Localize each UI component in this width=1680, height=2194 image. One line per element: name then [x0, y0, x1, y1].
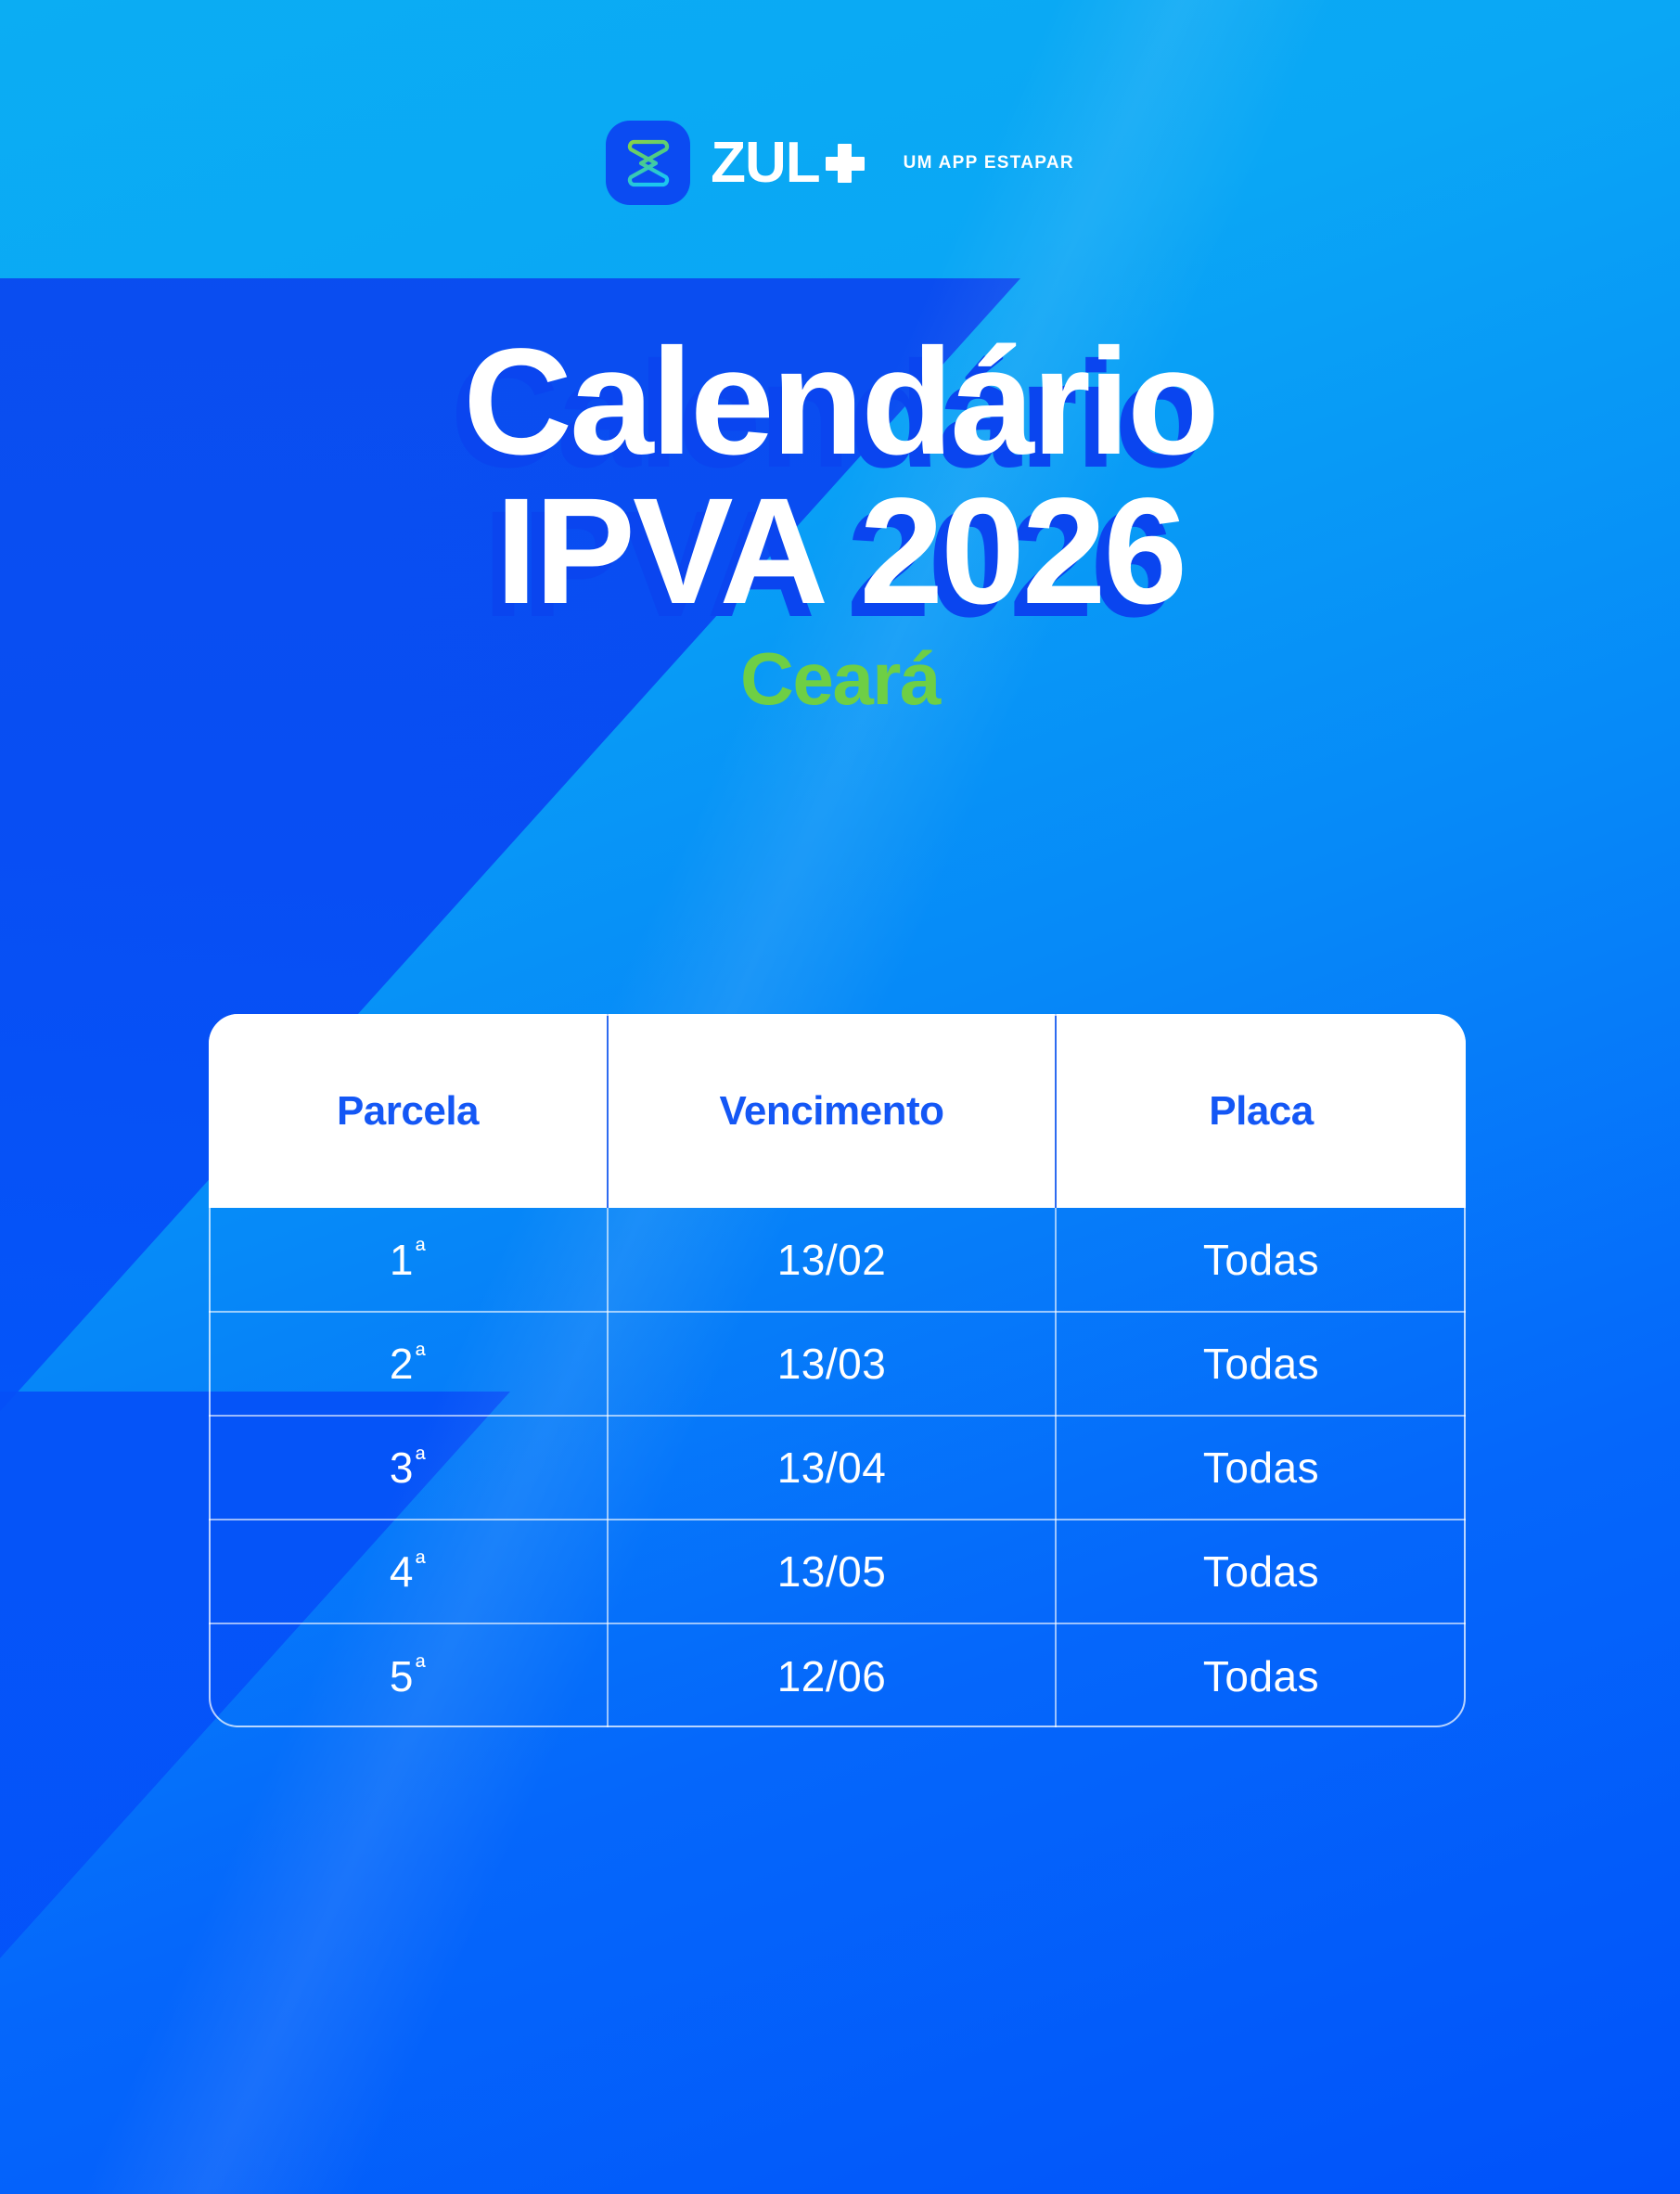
column-header-vencimento: Vencimento	[608, 1014, 1056, 1208]
parcela-number: 2	[390, 1340, 414, 1388]
title-line-2: IPVA 2026	[0, 474, 1680, 628]
cell-placa: Todas	[1056, 1416, 1466, 1520]
page-title: Calendário IPVA 2026 Ceará	[0, 329, 1680, 716]
zul-app-icon	[606, 121, 690, 205]
cell-vencimento: 13/04	[608, 1416, 1056, 1520]
ipva-schedule-table: Parcela Vencimento Placa 1ª 13/02 Todas …	[209, 1014, 1466, 1727]
parcela-number: 5	[390, 1652, 414, 1700]
table-body: 1ª 13/02 Todas 2ª 13/03 Todas 3ª 13/04 T…	[209, 1208, 1466, 1727]
cell-vencimento: 13/05	[608, 1520, 1056, 1623]
table-header: Parcela Vencimento Placa	[209, 1014, 1466, 1208]
cell-vencimento: 13/02	[608, 1208, 1056, 1312]
parcela-ordinal-suffix: ª	[416, 1444, 426, 1474]
cell-parcela: 2ª	[209, 1312, 608, 1416]
brand-wordmark: ZUL	[711, 135, 865, 192]
table-row: 4ª 13/05 Todas	[209, 1520, 1466, 1623]
cell-parcela: 5ª	[209, 1623, 608, 1727]
ipva-schedule-table-wrapper: Parcela Vencimento Placa 1ª 13/02 Todas …	[209, 1014, 1466, 1727]
cell-vencimento: 12/06	[608, 1623, 1056, 1727]
title-state-subtitle: Ceará	[0, 642, 1680, 716]
cell-vencimento: 13/03	[608, 1312, 1056, 1416]
brand-logo-row: ZUL UM APP ESTAPAR	[0, 121, 1680, 205]
plus-icon	[826, 144, 865, 183]
column-header-parcela: Parcela	[209, 1014, 608, 1208]
parcela-number: 1	[390, 1236, 414, 1284]
table-row: 2ª 13/03 Todas	[209, 1312, 1466, 1416]
cell-placa: Todas	[1056, 1312, 1466, 1416]
parcela-number: 3	[390, 1443, 414, 1492]
cell-parcela: 3ª	[209, 1416, 608, 1520]
table-row: 3ª 13/04 Todas	[209, 1416, 1466, 1520]
brand-tagline: UM APP ESTAPAR	[904, 153, 1074, 173]
table-row: 5ª 12/06 Todas	[209, 1623, 1466, 1727]
brand-name-text: ZUL	[711, 135, 820, 192]
cell-placa: Todas	[1056, 1520, 1466, 1623]
title-line-1: Calendário	[0, 329, 1680, 474]
parcela-number: 4	[390, 1547, 414, 1596]
cell-placa: Todas	[1056, 1208, 1466, 1312]
table-row: 1ª 13/02 Todas	[209, 1208, 1466, 1312]
parcela-ordinal-suffix: ª	[416, 1341, 426, 1370]
cell-parcela: 1ª	[209, 1208, 608, 1312]
column-header-placa: Placa	[1056, 1014, 1466, 1208]
poster-canvas: ZUL UM APP ESTAPAR Calendário IPVA 2026 …	[0, 0, 1680, 2194]
parcela-ordinal-suffix: ª	[416, 1548, 426, 1578]
parcela-ordinal-suffix: ª	[416, 1652, 426, 1682]
cell-parcela: 4ª	[209, 1520, 608, 1623]
cell-placa: Todas	[1056, 1623, 1466, 1727]
parcela-ordinal-suffix: ª	[416, 1236, 426, 1265]
table-header-row: Parcela Vencimento Placa	[209, 1014, 1466, 1208]
